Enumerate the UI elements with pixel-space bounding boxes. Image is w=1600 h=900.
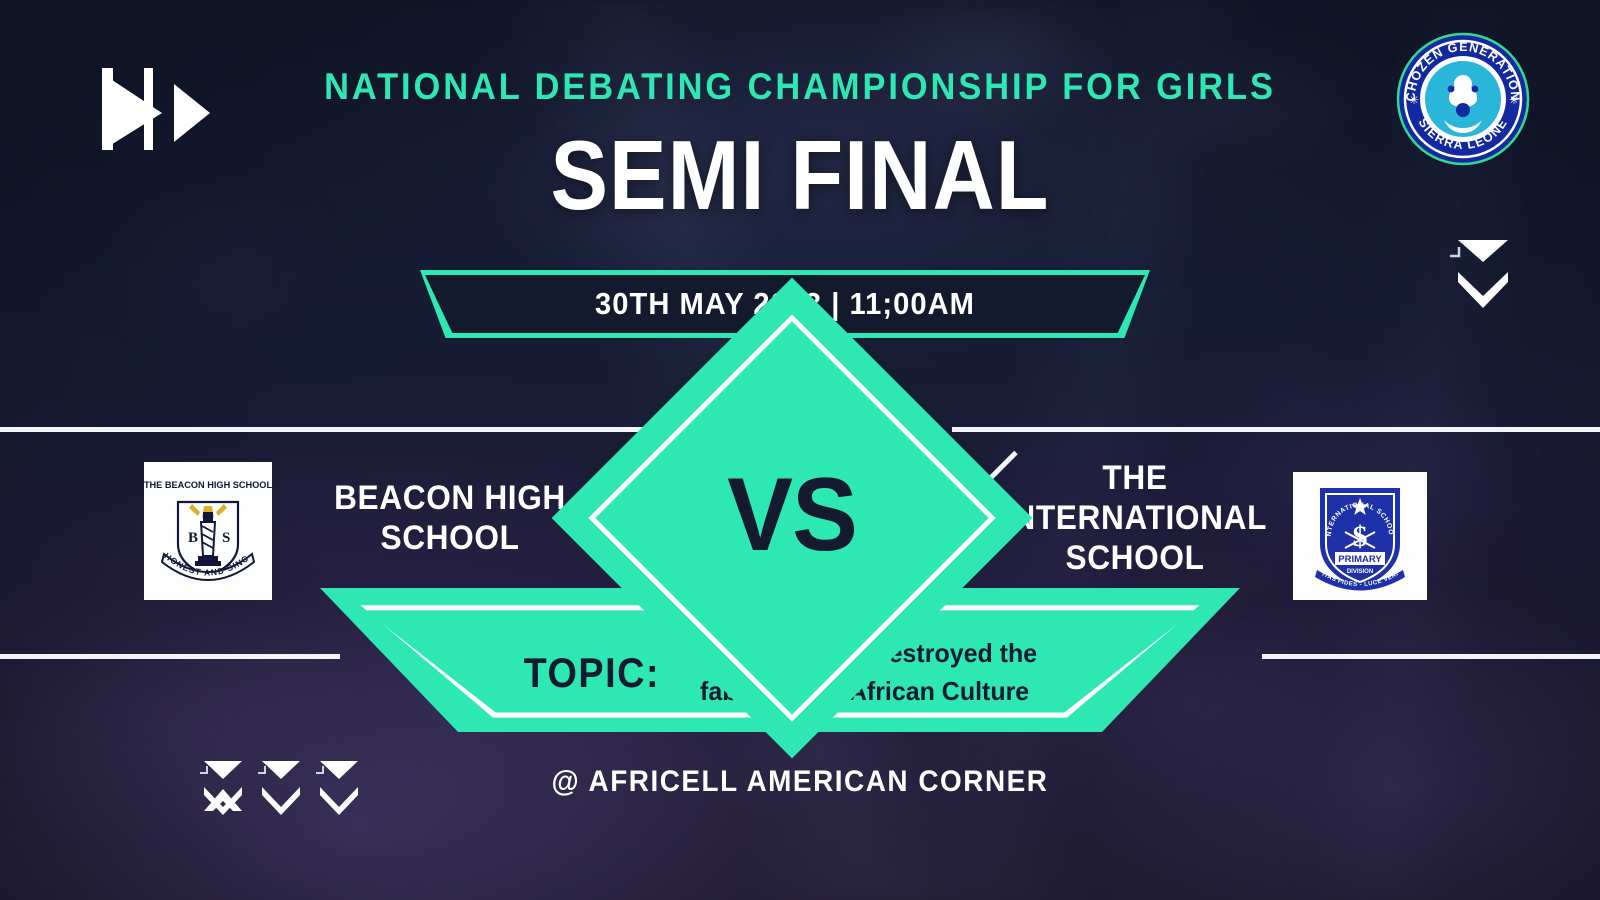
divider-line-right-top	[952, 427, 1600, 432]
bowtie-decoration-group-bottom	[200, 757, 362, 815]
event-poster: CHOZEN GENERATION SIERRA LEONE ✳ ✳ NATIO…	[0, 0, 1600, 900]
versus-label: VS	[631, 348, 954, 688]
bowtie-decoration-group-right	[1450, 236, 1496, 294]
svg-text:S: S	[222, 530, 230, 546]
team-right-name-line3: SCHOOL	[996, 538, 1275, 578]
divider-line-left-bottom	[0, 654, 340, 659]
divider-line-right-bottom	[1262, 654, 1600, 659]
bowtie-chevron-icon	[200, 757, 246, 815]
bowtie-chevron-icon	[1450, 236, 1496, 294]
team-left-name-line2: SCHOOL	[311, 518, 590, 558]
team-right-name-line2: INTERNATIONAL	[996, 498, 1275, 538]
svg-text:PRIMARY: PRIMARY	[1338, 554, 1382, 565]
international-school-crest-icon: THE INTERNATIONAL SCHOOL LTD $ PRIMARY D…	[1293, 472, 1427, 600]
versus-diamond: VS	[622, 348, 962, 688]
bowtie-chevron-icon	[316, 757, 362, 815]
svg-text:DIVISION: DIVISION	[1347, 569, 1373, 575]
event-kicker: NATIONAL DEBATING CHAMPIONSHIP FOR GIRLS	[56, 68, 1544, 105]
team-left-name-line1: BEACON HIGH	[311, 478, 590, 518]
divider-line-left-top	[0, 427, 648, 432]
team-right-name-line1: THE	[996, 458, 1275, 498]
team-right-name: THE INTERNATIONAL SCHOOL	[996, 458, 1275, 578]
bowtie-chevron-icon	[258, 757, 304, 815]
page-title: SEMI FINAL	[96, 126, 1504, 224]
svg-text:B: B	[188, 530, 198, 546]
svg-text:THE BEACON HIGH SCHOOL: THE BEACON HIGH SCHOOL	[144, 480, 272, 490]
team-left-name: BEACON HIGH SCHOOL	[311, 478, 590, 558]
beacon-high-school-crest-icon: THE BEACON HIGH SCHOOL B S BE HONEST AND…	[144, 462, 272, 600]
